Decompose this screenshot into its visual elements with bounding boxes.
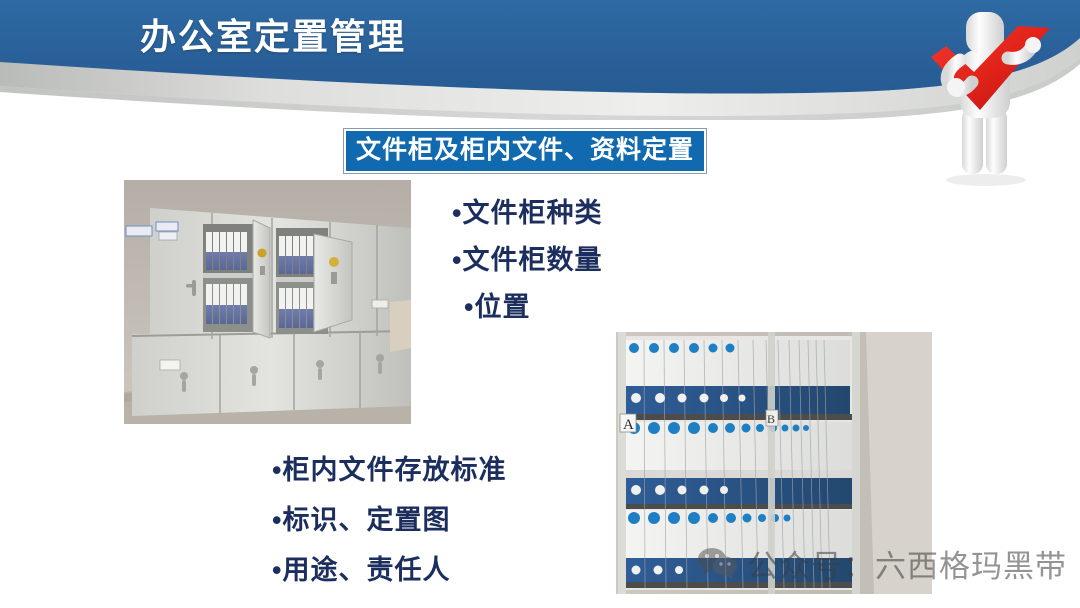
- bullet-label: 文件柜种类: [462, 198, 602, 228]
- bullet-marker: •: [464, 292, 474, 322]
- bullet-marker: •: [452, 245, 462, 275]
- svg-text:B: B: [767, 412, 775, 426]
- bullet-marker: •: [452, 198, 462, 228]
- bullet-list-top: •文件柜种类 •文件柜数量 •位置: [452, 190, 602, 331]
- bullet-item: •文件柜种类: [452, 190, 602, 237]
- bullet-item: •柜内文件存放标准: [272, 445, 506, 495]
- subtitle-text: 文件柜及柜内文件、资料定置: [346, 131, 704, 171]
- bullet-item: •文件柜数量: [452, 237, 602, 284]
- bullet-marker: •: [272, 555, 282, 585]
- bullet-label: 用途、责任人: [282, 555, 450, 585]
- bullet-item: •用途、责任人: [272, 545, 506, 595]
- bullet-list-bottom: •柜内文件存放标准 •标识、定置图 •用途、责任人: [272, 445, 506, 595]
- bullet-label: 位置: [474, 292, 530, 322]
- page-title: 办公室定置管理: [140, 14, 700, 60]
- svg-text:A: A: [623, 417, 634, 433]
- bullet-marker: •: [272, 455, 282, 485]
- bullet-label: 文件柜数量: [462, 245, 602, 275]
- slide-canvas: 办公室定置管理: [0, 0, 1080, 608]
- bullet-item: •位置: [452, 284, 602, 331]
- photo-filing-cabinets: [124, 180, 411, 424]
- subtitle-banner: 文件柜及柜内文件、资料定置: [343, 128, 707, 174]
- bullet-label: 标识、定置图: [282, 505, 450, 535]
- bullet-label: 柜内文件存放标准: [282, 455, 506, 485]
- bullet-marker: •: [272, 505, 282, 535]
- photo-archive-shelves: A B: [616, 332, 932, 594]
- person-holding-check-icon: [900, 2, 1080, 197]
- bullet-item: •标识、定置图: [272, 495, 506, 545]
